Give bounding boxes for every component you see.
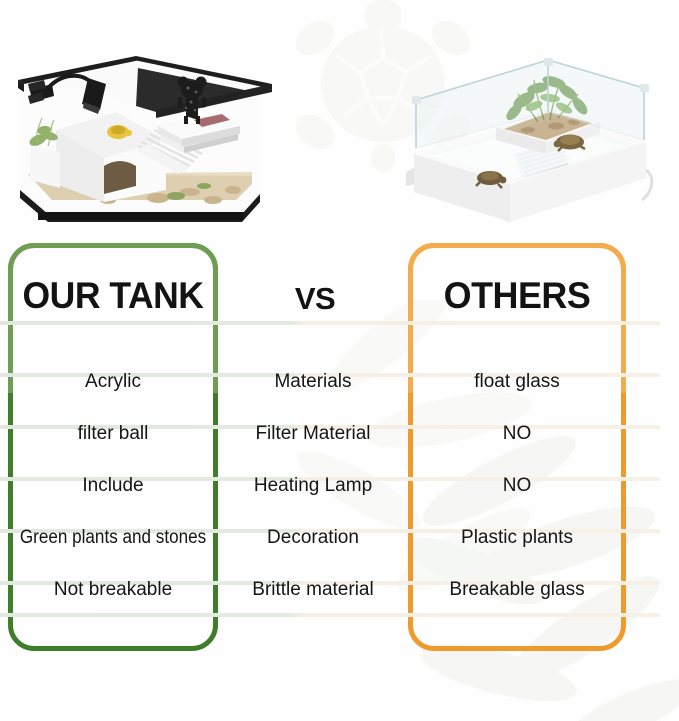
row-divider [0, 321, 660, 325]
cell-ours-materials: Acrylic [8, 369, 218, 395]
cell-others-brittle-material: Breakable glass [408, 577, 626, 603]
cell-attribute-decoration: Decoration [222, 525, 404, 551]
vs-label: VS [230, 281, 400, 317]
cell-ours-heating-lamp: Include [8, 473, 218, 499]
cell-ours-decoration: Green plants and stones [19, 525, 208, 551]
cell-ours-filter-material: filter ball [8, 421, 218, 447]
cell-attribute-materials: Materials [222, 369, 404, 395]
comparison-infographic: OUR TANK VS OTHERS Acrylic Materials flo… [0, 0, 679, 721]
cell-others-decoration: Plastic plants [408, 525, 626, 551]
comparison-table: OUR TANK VS OTHERS Acrylic Materials flo… [0, 243, 679, 663]
our-tank-heading: OUR TANK [12, 275, 214, 317]
cell-others-heating-lamp: NO [408, 473, 626, 499]
cell-ours-brittle-material: Not breakable [8, 577, 218, 603]
cell-attribute-brittle-material: Brittle material [222, 577, 404, 603]
cell-others-filter-material: NO [408, 421, 626, 447]
others-glass-turtle-tank-photo [398, 50, 660, 228]
others-heading: OTHERS [411, 275, 622, 317]
cell-attribute-heating-lamp: Heating Lamp [222, 473, 404, 499]
our-acrylic-turtle-tank-photo [8, 34, 276, 226]
cell-attribute-filter-material: Filter Material [222, 421, 404, 447]
row-divider [0, 613, 660, 617]
cell-others-materials: float glass [408, 369, 626, 395]
